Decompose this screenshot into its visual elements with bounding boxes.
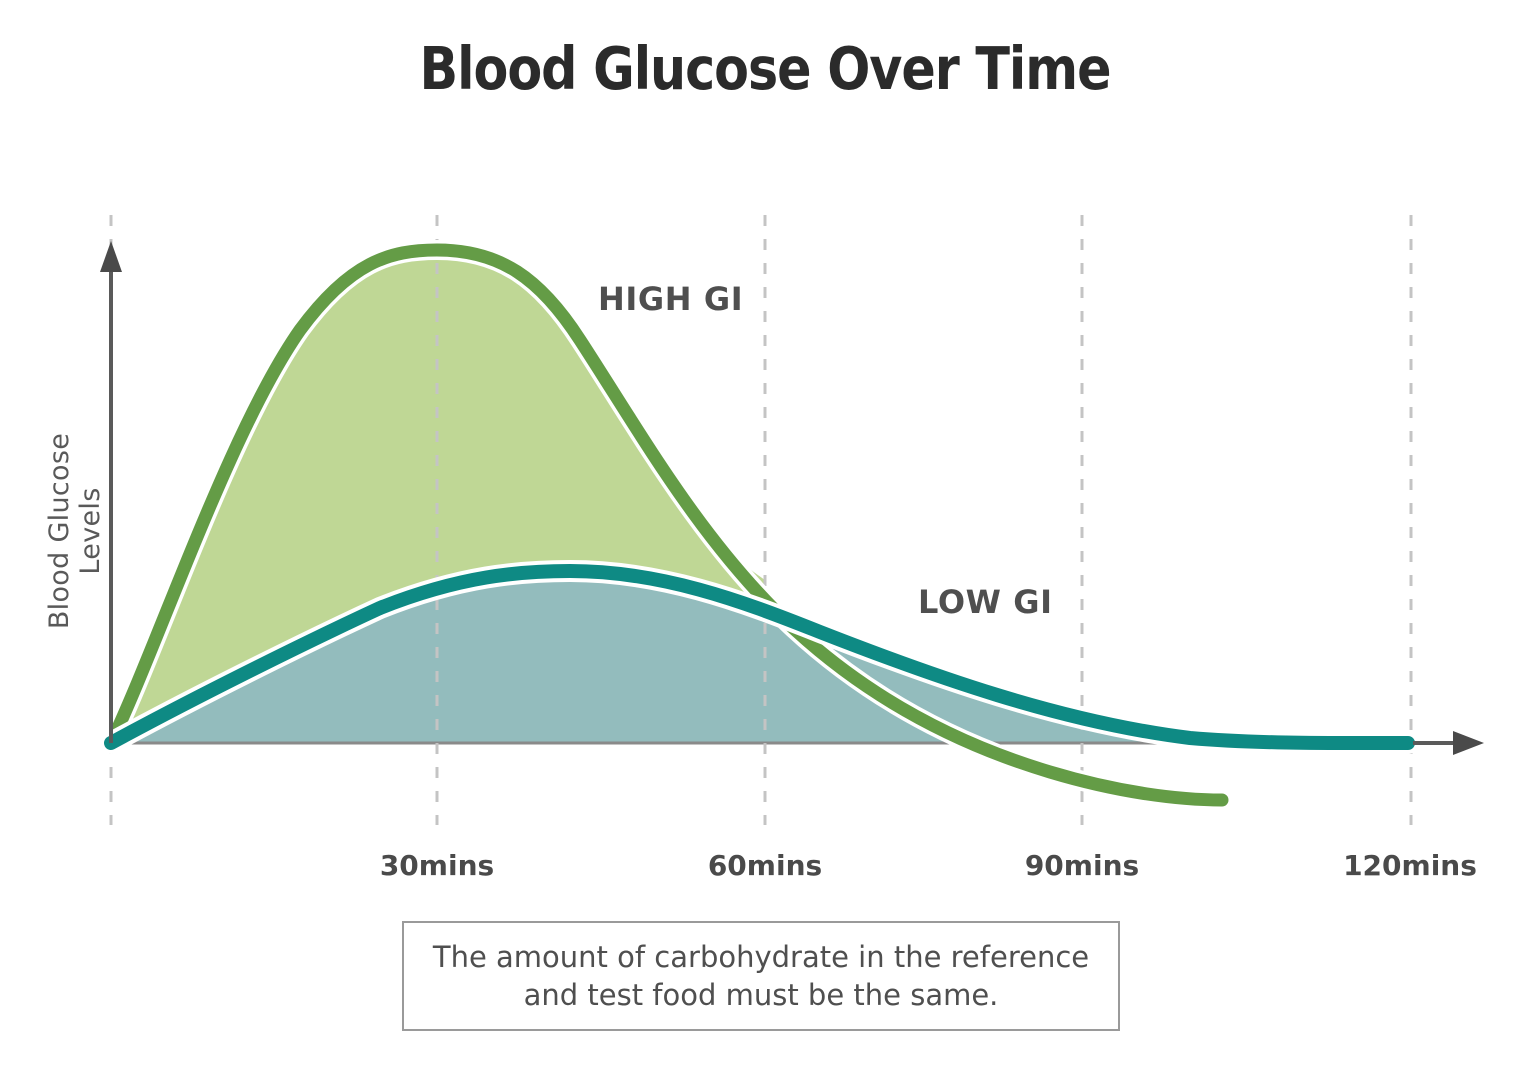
x-tick-label-120mins: 120mins	[1300, 849, 1520, 882]
caption-text: The amount of carbohydrate in the refere…	[415, 938, 1107, 1015]
caption-line-2: and test food must be the same.	[524, 978, 999, 1012]
chart-page: Blood Glucose Over Time Blood	[0, 0, 1530, 1082]
x-tick-label-90mins: 90mins	[972, 849, 1192, 882]
blood-glucose-area-chart	[0, 0, 1530, 1082]
caption-box: The amount of carbohydrate in the refere…	[402, 921, 1120, 1031]
x-axis-arrowhead	[1453, 731, 1484, 755]
x-tick-label-60mins: 60mins	[655, 849, 875, 882]
series-label-low-gi: LOW GI	[918, 583, 1053, 621]
series-label-high-gi: HIGH GI	[598, 280, 743, 318]
y-axis-arrowhead	[100, 241, 122, 272]
caption-line-1: The amount of carbohydrate in the refere…	[433, 940, 1089, 974]
x-tick-label-30mins: 30mins	[327, 849, 547, 882]
y-axis-label: Blood Glucose Levels	[44, 401, 106, 661]
